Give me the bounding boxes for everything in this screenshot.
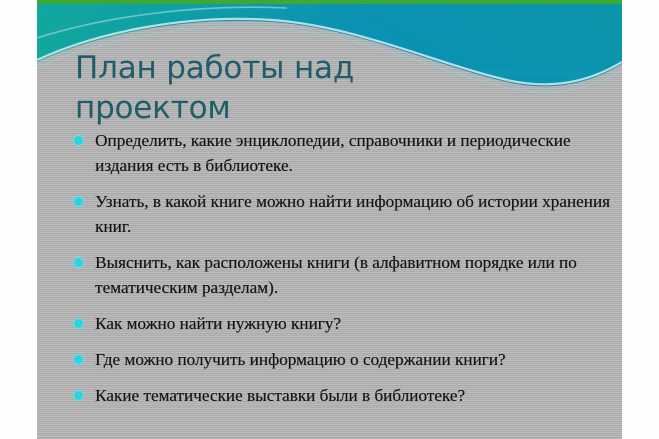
slide-canvas: План работы над проектом Определить, как… [37, 0, 622, 439]
list-item: Определить, какие энциклопедии, справочн… [63, 128, 611, 178]
bullet-list: Определить, какие энциклопедии, справочн… [63, 128, 611, 408]
presentation-page: План работы над проектом Определить, как… [0, 0, 659, 439]
list-item: Какие тематические выставки были в библи… [63, 383, 611, 408]
slide-title: План работы над проектом [75, 48, 495, 128]
bullet-dot-icon [73, 196, 84, 207]
list-item-text: Выяснить, как расположены книги (в алфав… [95, 250, 611, 300]
list-item: Выяснить, как расположены книги (в алфав… [63, 250, 611, 300]
list-item-text: Какие тематические выставки были в библи… [95, 383, 611, 408]
bullet-dot-icon [73, 135, 84, 146]
bullet-dot-icon [73, 257, 84, 268]
list-item: Узнать, в какой книге можно найти информ… [63, 189, 611, 239]
bullet-dot-icon [73, 318, 84, 329]
list-item: Где можно получить информацию о содержан… [63, 347, 611, 372]
list-item-text: Узнать, в какой книге можно найти информ… [95, 189, 611, 239]
bullet-dot-icon [73, 390, 84, 401]
bullet-dot-icon [73, 354, 84, 365]
top-green-rule [37, 0, 622, 4]
list-item-text: Где можно получить информацию о содержан… [95, 347, 611, 372]
list-item: Как можно найти нужную книгу? [63, 311, 611, 336]
list-item-text: Как можно найти нужную книгу? [95, 311, 611, 336]
list-item-text: Определить, какие энциклопедии, справочн… [95, 128, 611, 178]
